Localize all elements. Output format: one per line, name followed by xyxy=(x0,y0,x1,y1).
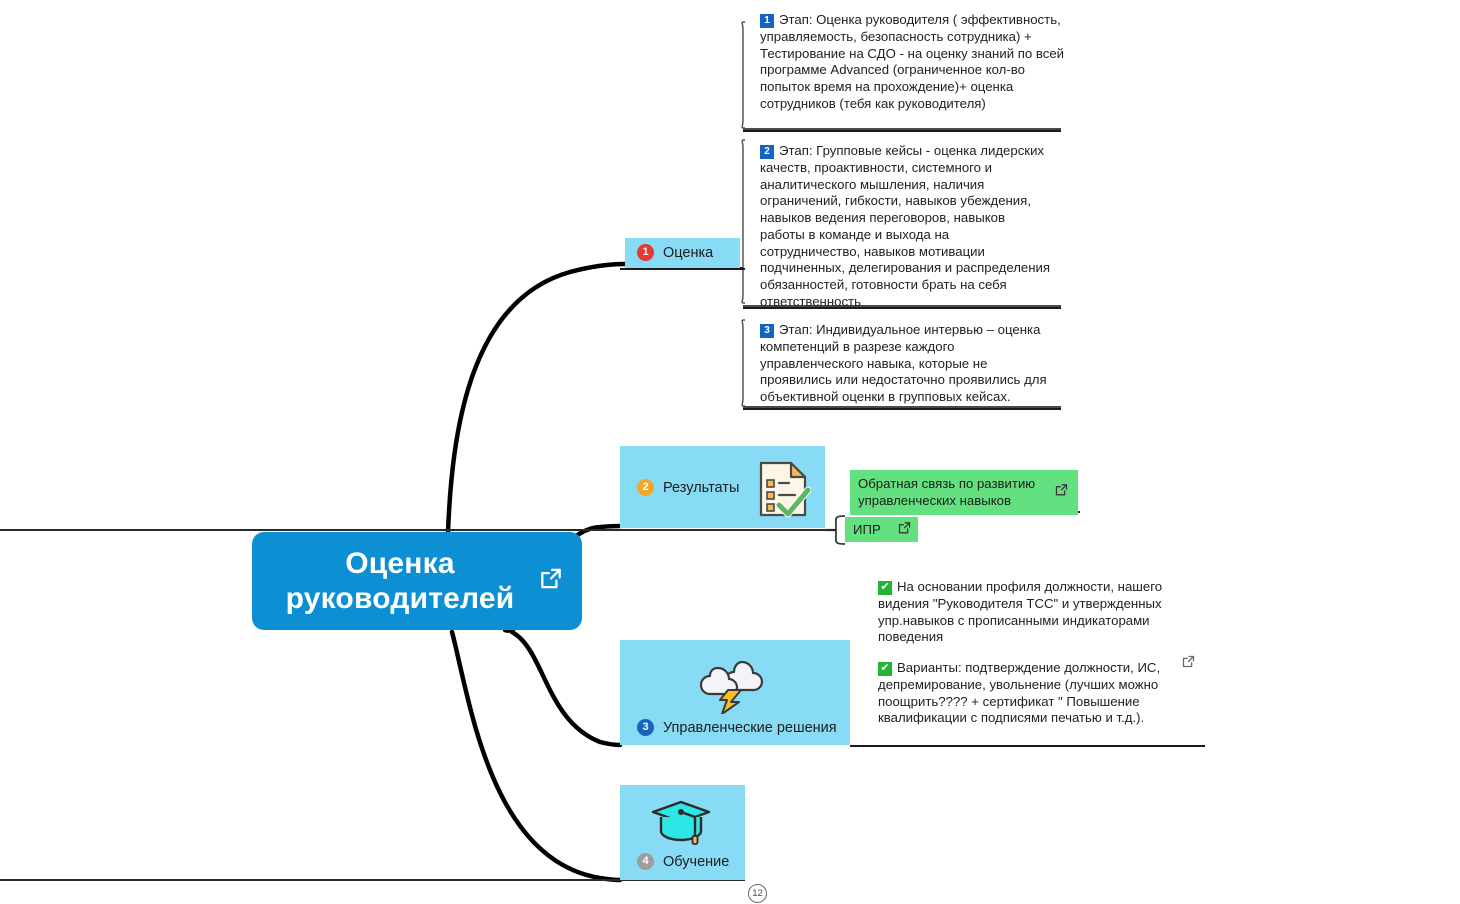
root-node-label: Оценка руководителей xyxy=(252,546,582,617)
green-leaf-feedback-label: Обратная связь по развитию управленчески… xyxy=(858,476,1035,508)
branch-tag-ocenka: 1 Оценка xyxy=(637,244,713,261)
bracket-leaf-2 xyxy=(742,140,745,303)
badge-1: 1 xyxy=(637,244,654,261)
step-number-1: 1 xyxy=(760,14,774,28)
green-leaf-feedback[interactable]: Обратная связь по развитию управленчески… xyxy=(850,470,1078,515)
leaf-text-2: Этап: Групповые кейсы - оценка лидерских… xyxy=(760,143,1050,309)
bracket-ipr xyxy=(836,516,845,544)
leaf-ocenka-3: 3Этап: Индивидуальное интервью – оценка … xyxy=(760,322,1060,406)
mindmap-canvas: Оценка руководителей 1 Оценка 2 Результа… xyxy=(0,0,1460,904)
edge-root-to-ocenka xyxy=(448,264,625,532)
upravlencheskie-underline xyxy=(850,745,1205,747)
branch-node-obuchenie[interactable]: 4 Обучение xyxy=(620,785,745,880)
rezultaty-baseline xyxy=(0,529,836,531)
branch-label-upravlencheskie: Управленческие решения xyxy=(663,720,837,736)
green-leaf-ipr[interactable]: ИПР xyxy=(845,517,918,542)
root-node[interactable]: Оценка руководителей xyxy=(252,532,582,630)
leaf-underline-1b xyxy=(743,130,1061,132)
branch-tag-obuchenie: 4 Обучение xyxy=(637,853,729,870)
checklist-document-icon xyxy=(755,460,811,523)
leaf-ocenka-1: 1Этап: Оценка руководителя ( эффективнос… xyxy=(760,12,1065,113)
branch-node-rezultaty[interactable]: 2 Результаты xyxy=(620,446,825,528)
ocenka-node-underline xyxy=(620,268,745,270)
leaf-upravlencheskie-1: ✔На основании профиля должности, нашего … xyxy=(878,579,1183,646)
leaf-upravlencheskie-2-text: Варианты: подтверждение должности, ИС, д… xyxy=(878,660,1160,725)
check-icon: ✔ xyxy=(878,581,892,595)
graduation-cap-icon xyxy=(649,798,713,855)
branch-tag-rezultaty: 2 Результаты xyxy=(637,479,739,496)
branch-label-obuchenie: Обучение xyxy=(663,854,729,870)
green-leaf-ipr-label: ИПР xyxy=(853,522,881,537)
step-number-2: 2 xyxy=(760,145,774,159)
page-count-badge[interactable]: 12 xyxy=(748,884,767,903)
leaf-text-3: Этап: Индивидуальное интервью – оценка к… xyxy=(760,322,1047,404)
leaf-underline-3b xyxy=(743,408,1061,410)
badge-4: 4 xyxy=(637,853,654,870)
storm-cloud-lightning-icon xyxy=(698,652,770,719)
check-icon: ✔ xyxy=(878,662,892,676)
external-link-icon[interactable] xyxy=(1054,483,1069,502)
leaf-upravlencheskie-1-text: На основании профиля должности, нашего в… xyxy=(878,579,1162,644)
branch-tag-upravlencheskie: 3 Управленческие решения xyxy=(637,719,837,736)
external-link-icon[interactable] xyxy=(897,520,912,539)
branch-node-upravlencheskie[interactable]: 3 Управленческие решения xyxy=(620,640,850,745)
edge-root-to-upravlencheskie xyxy=(512,632,620,745)
leaf-upravlencheskie-2: ✔Варианты: подтверждение должности, ИС, … xyxy=(878,660,1178,727)
external-link-icon[interactable] xyxy=(1181,654,1196,674)
bracket-leaf-1 xyxy=(742,22,745,128)
leaf-ocenka-2: 2Этап: Групповые кейсы - оценка лидерски… xyxy=(760,143,1052,311)
branch-label-rezultaty: Результаты xyxy=(663,480,739,496)
branch-node-ocenka[interactable]: 1 Оценка xyxy=(625,238,740,268)
badge-2: 2 xyxy=(637,479,654,496)
step-number-3: 3 xyxy=(760,324,774,338)
badge-3: 3 xyxy=(637,719,654,736)
edge-root-to-obuchenie xyxy=(452,632,620,880)
bracket-leaf-3 xyxy=(742,320,745,406)
branch-label-ocenka: Оценка xyxy=(663,245,713,261)
external-link-icon[interactable] xyxy=(538,566,564,597)
leaf-text-1: Этап: Оценка руководителя ( эффективност… xyxy=(760,12,1064,111)
